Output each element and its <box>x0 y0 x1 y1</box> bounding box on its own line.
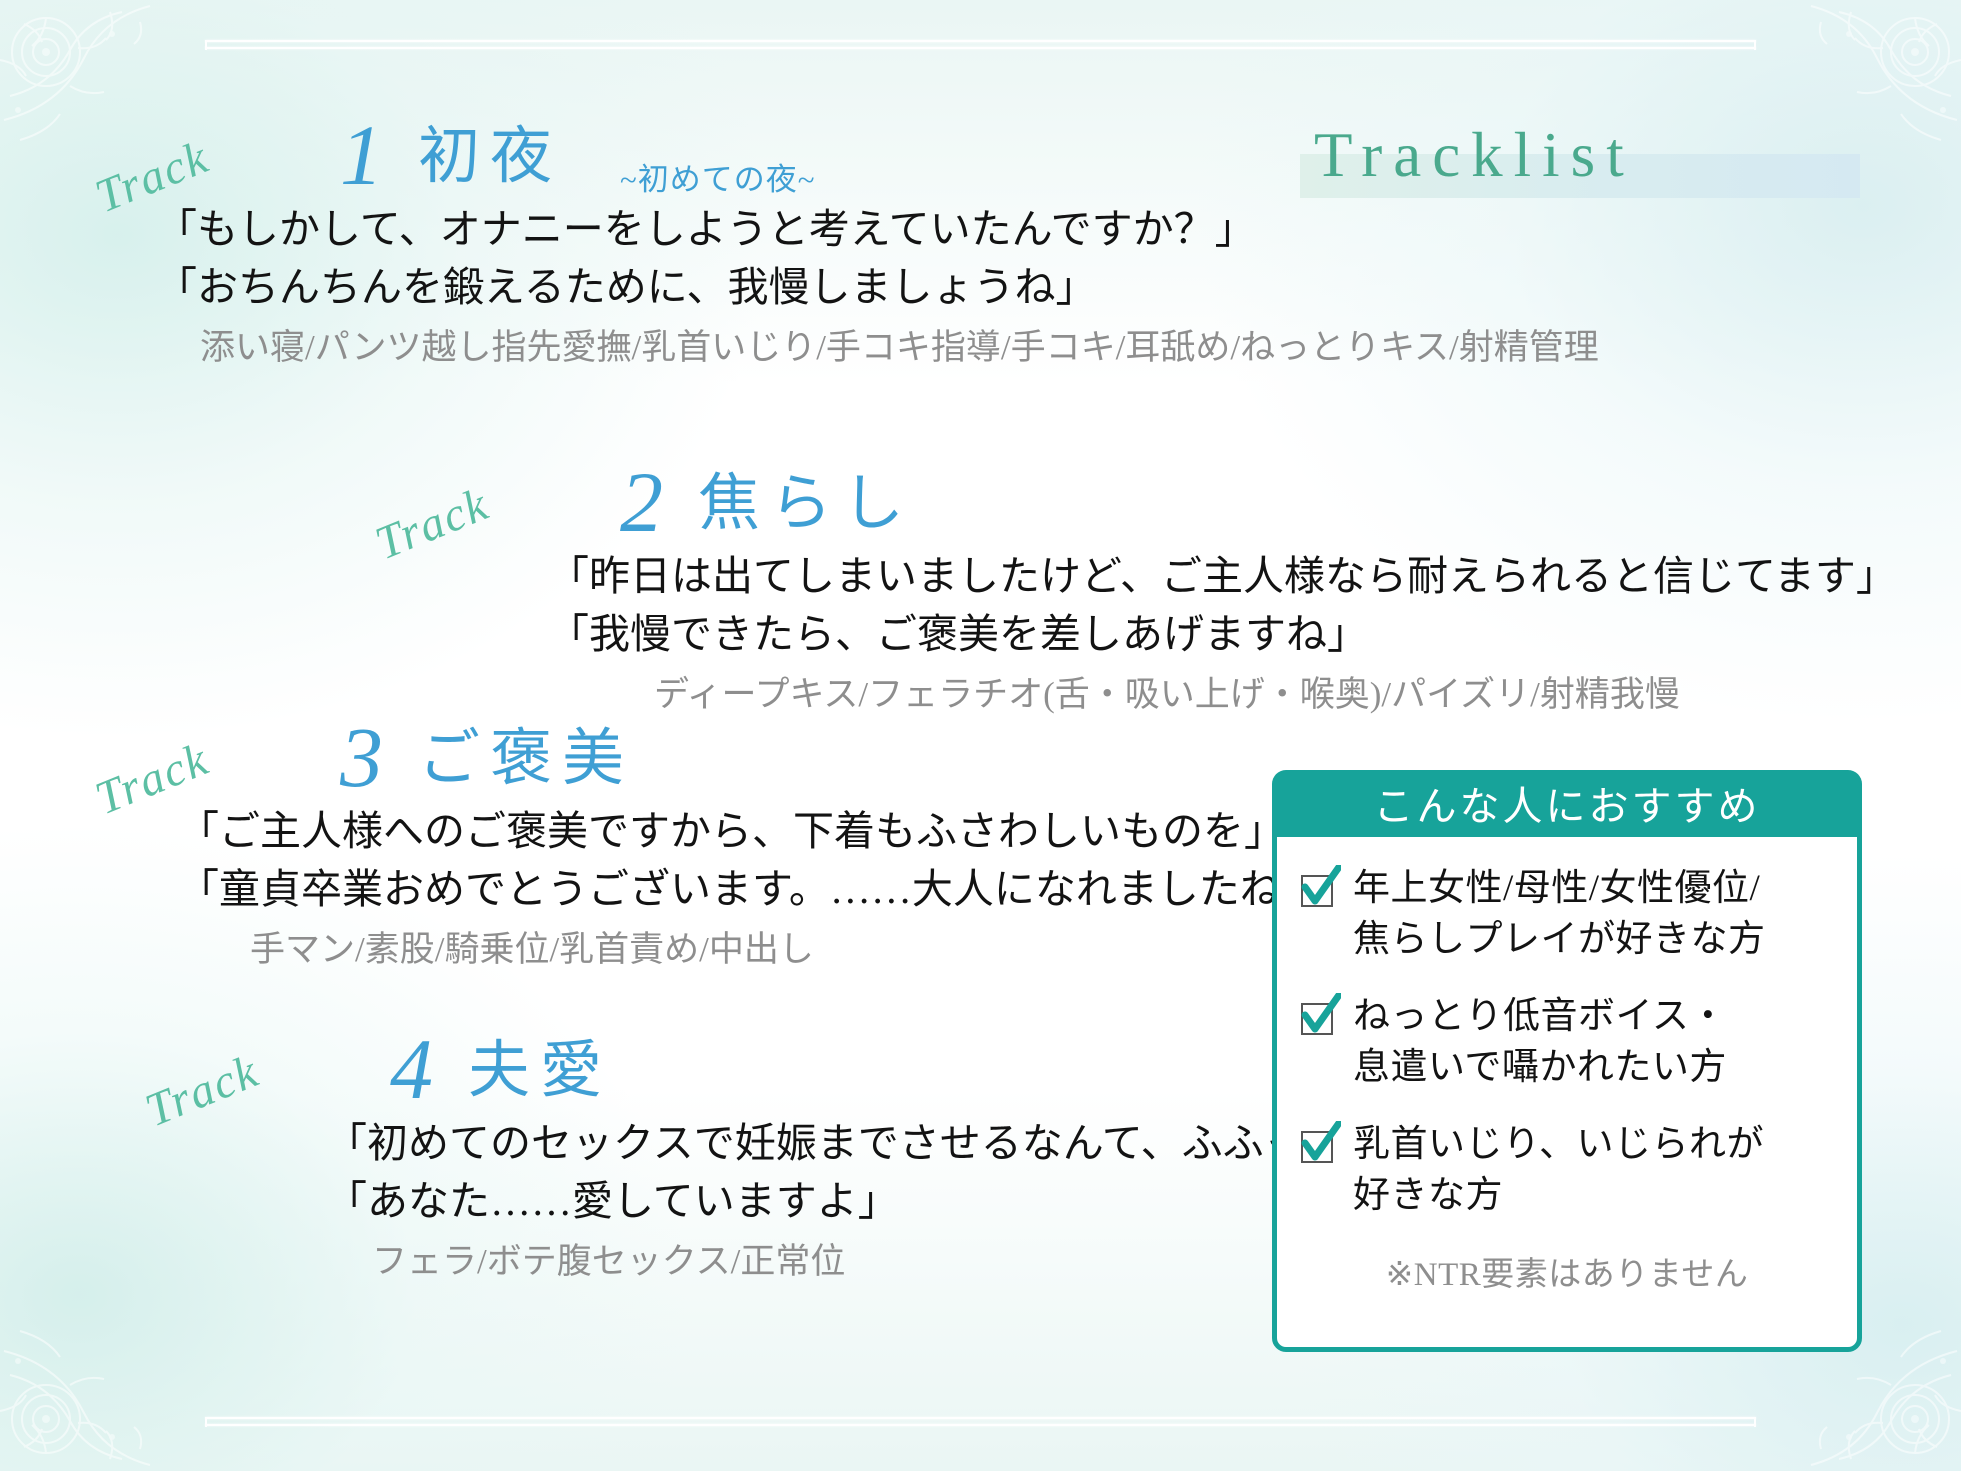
track-3-tags: 手マン/素股/騎乗位/乳首責め/中出し <box>250 924 1300 977</box>
track-1-number: 1 <box>340 112 383 198</box>
track-1-quote-1: 「もしかして、オナニーをしようと考えていたんですか？」 <box>156 200 1700 258</box>
track-2-quote-1: 「昨日は出てしまいましたけど、ご主人様なら耐えられると信じてます」 <box>548 547 1961 605</box>
recommend-item-3-text: 乳首いじり、いじられが 好きな方 <box>1353 1119 1764 1221</box>
track-2-title: 焦らし <box>698 473 914 535</box>
track-block-4: Track 4 夫愛 「初めてのセックスで妊娠までさせるなんて、ふふっ」 「あな… <box>150 1022 1350 1289</box>
track-1-quote-2: 「おちんちんを鍛えるために、我慢しましょうね」 <box>156 258 1700 316</box>
recommend-item-3-line-1: 乳首いじり、いじられが <box>1353 1124 1764 1165</box>
track-4-quote-1: 「初めてのセックスで妊娠までさせるなんて、ふふっ」 <box>326 1114 1350 1172</box>
track-3-number: 3 <box>340 714 383 800</box>
track-4-quote-2: 「あなた……愛していますよ」 <box>326 1172 1350 1230</box>
track-block-3: Track 3 ご褒美 「ご主人様へのご褒美ですから、下着もふさわしいものを」 … <box>100 710 1300 977</box>
track-1-subtitle: ~初めての夜~ <box>620 164 816 195</box>
recommend-item-2-line-2: 息遣いで囁かれたい方 <box>1353 1047 1727 1088</box>
recommend-item-1-text: 年上女性/母性/女性優位/ 焦らしプレイが好きな方 <box>1353 863 1766 965</box>
track-4-title: 夫愛 <box>468 1040 612 1102</box>
track-3-title: ご褒美 <box>418 728 634 790</box>
track-2-label: Track <box>369 481 495 568</box>
track-block-1: Track 1 初夜 ~初めての夜~ 「もしかして、オナニーをしようと考えていた… <box>100 108 1700 375</box>
track-1-title: 初夜 <box>418 126 562 188</box>
track-block-2: Track 2 焦らし 「昨日は出てしまいましたけど、ご主人様なら耐えられると信… <box>380 455 1961 722</box>
recommend-item-2-line-1: ねっとり低音ボイス・ <box>1353 996 1727 1037</box>
top-divider-rule <box>205 40 1756 50</box>
corner-lace-bottom-left-icon <box>0 1281 210 1471</box>
track-3-quote-1: 「ご主人様へのご褒美ですから、下着もふさわしいものを」 <box>178 802 1300 860</box>
recommend-item-1: 年上女性/母性/女性優位/ 焦らしプレイが好きな方 <box>1299 863 1835 965</box>
track-4-tags: フェラ/ボテ腹セックス/正常位 <box>372 1236 1350 1289</box>
recommend-item-2: ねっとり低音ボイス・ 息遣いで囁かれたい方 <box>1299 991 1835 1093</box>
track-2-quote-2: 「我慢できたら、ご褒美を差しあげますね」 <box>548 605 1961 663</box>
tracklist-page: Tracklist Track 1 初夜 ~初めての夜~ 「もしかして、オナニー… <box>0 0 1961 1471</box>
track-4-label: Track <box>139 1048 265 1135</box>
recommend-box: こんな人におすすめ 年上女性/母性/女性優位/ 焦らしプレイが好きな方 <box>1272 770 1862 1352</box>
track-4-number: 4 <box>390 1026 433 1112</box>
track-1-heading: Track 1 初夜 ~初めての夜~ <box>100 108 1700 200</box>
recommend-header: こんな人におすすめ <box>1272 770 1862 836</box>
recommend-item-3: 乳首いじり、いじられが 好きな方 <box>1299 1119 1835 1221</box>
recommend-item-3-line-2: 好きな方 <box>1353 1175 1503 1216</box>
track-2-number: 2 <box>620 459 663 545</box>
bottom-divider-rule <box>205 1417 1756 1427</box>
track-2-heading: Track 2 焦らし <box>380 455 1961 547</box>
track-1-tags: 添い寝/パンツ越し指先愛撫/乳首いじり/手コキ指導/手コキ/耳舐め/ねっとりキス… <box>200 322 1700 375</box>
recommend-item-2-text: ねっとり低音ボイス・ 息遣いで囁かれたい方 <box>1353 991 1727 1093</box>
checkbox-checked-icon[interactable] <box>1299 869 1339 909</box>
recommend-body: 年上女性/母性/女性優位/ 焦らしプレイが好きな方 ねっとり低音ボイス・ 息遣い… <box>1272 832 1862 1352</box>
recommend-note: ※NTR要素はありません <box>1299 1247 1835 1295</box>
track-3-heading: Track 3 ご褒美 <box>100 710 1300 802</box>
recommend-item-1-line-2: 焦らしプレイが好きな方 <box>1353 919 1766 960</box>
track-4-heading: Track 4 夫愛 <box>150 1022 1350 1114</box>
checkbox-checked-icon[interactable] <box>1299 997 1339 1037</box>
recommend-item-1-line-1: 年上女性/母性/女性優位/ <box>1353 868 1760 909</box>
track-3-quote-2: 「童貞卒業おめでとうございます。……大人になれましたね」 <box>178 860 1300 918</box>
checkbox-checked-icon[interactable] <box>1299 1125 1339 1165</box>
